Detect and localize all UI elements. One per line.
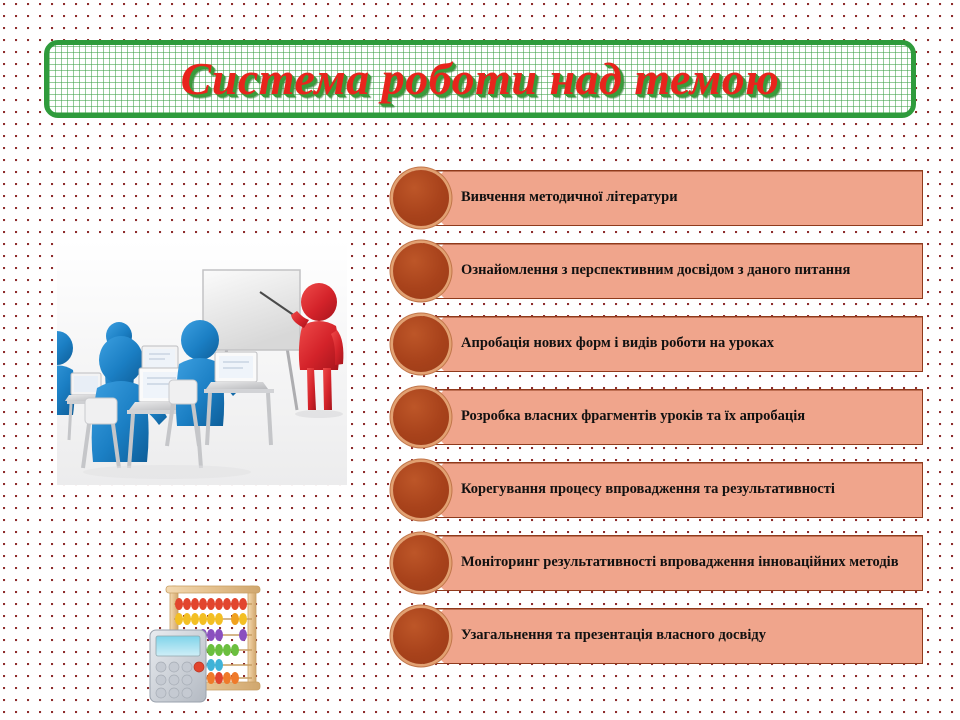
step-item[interactable]: Розробка власних фрагментів уроків та їх… xyxy=(393,389,923,445)
step-bar[interactable]: Розробка власних фрагментів уроків та їх… xyxy=(435,389,923,445)
step-item[interactable]: Вивчення методичної літератури xyxy=(393,170,923,226)
abacus-calculator-svg xyxy=(148,578,284,704)
steps-list: Вивчення методичної літератури Ознайомле… xyxy=(393,170,923,690)
slide-canvas: Система роботи над темою xyxy=(0,0,960,720)
step-bullet-circle xyxy=(393,462,449,518)
step-bar[interactable]: Узагальнення та презентація власного дос… xyxy=(435,608,923,664)
step-label: Корегування процесу впровадження та резу… xyxy=(435,481,849,499)
step-bullet-circle xyxy=(393,170,449,226)
step-label: Моніторинг результативності впровадження… xyxy=(435,554,913,572)
step-bullet-circle xyxy=(393,608,449,664)
step-item[interactable]: Ознайомлення з перспективним досвідом з … xyxy=(393,243,923,299)
step-bullet-circle xyxy=(393,243,449,299)
step-bullet-circle xyxy=(393,535,449,591)
step-item[interactable]: Узагальнення та презентація власного дос… xyxy=(393,608,923,664)
step-bar[interactable]: Ознайомлення з перспективним досвідом з … xyxy=(435,243,923,299)
step-label: Розробка власних фрагментів уроків та їх… xyxy=(435,408,819,426)
step-label: Вивчення методичної літератури xyxy=(435,189,692,207)
page-title: Система роботи над темою xyxy=(181,56,780,102)
title-banner: Система роботи над темою xyxy=(44,40,916,118)
step-bar[interactable]: Вивчення методичної літератури xyxy=(435,170,923,226)
step-bullet-circle xyxy=(393,316,449,372)
step-item[interactable]: Корегування процесу впровадження та резу… xyxy=(393,462,923,518)
step-bar[interactable]: Моніторинг результативності впровадження… xyxy=(435,535,923,591)
classroom-illustration xyxy=(57,240,347,485)
step-item[interactable]: Моніторинг результативності впровадження… xyxy=(393,535,923,591)
abacus-calculator-illustration xyxy=(148,578,284,704)
step-label: Ознайомлення з перспективним досвідом з … xyxy=(435,262,864,280)
step-label: Узагальнення та презентація власного дос… xyxy=(435,627,780,645)
classroom-illustration-svg xyxy=(57,240,347,485)
step-bar[interactable]: Корегування процесу впровадження та резу… xyxy=(435,462,923,518)
step-bullet-circle xyxy=(393,389,449,445)
step-bar[interactable]: Апробація нових форм і видів роботи на у… xyxy=(435,316,923,372)
step-label: Апробація нових форм і видів роботи на у… xyxy=(435,335,788,353)
step-item[interactable]: Апробація нових форм і видів роботи на у… xyxy=(393,316,923,372)
calculator xyxy=(150,630,206,702)
